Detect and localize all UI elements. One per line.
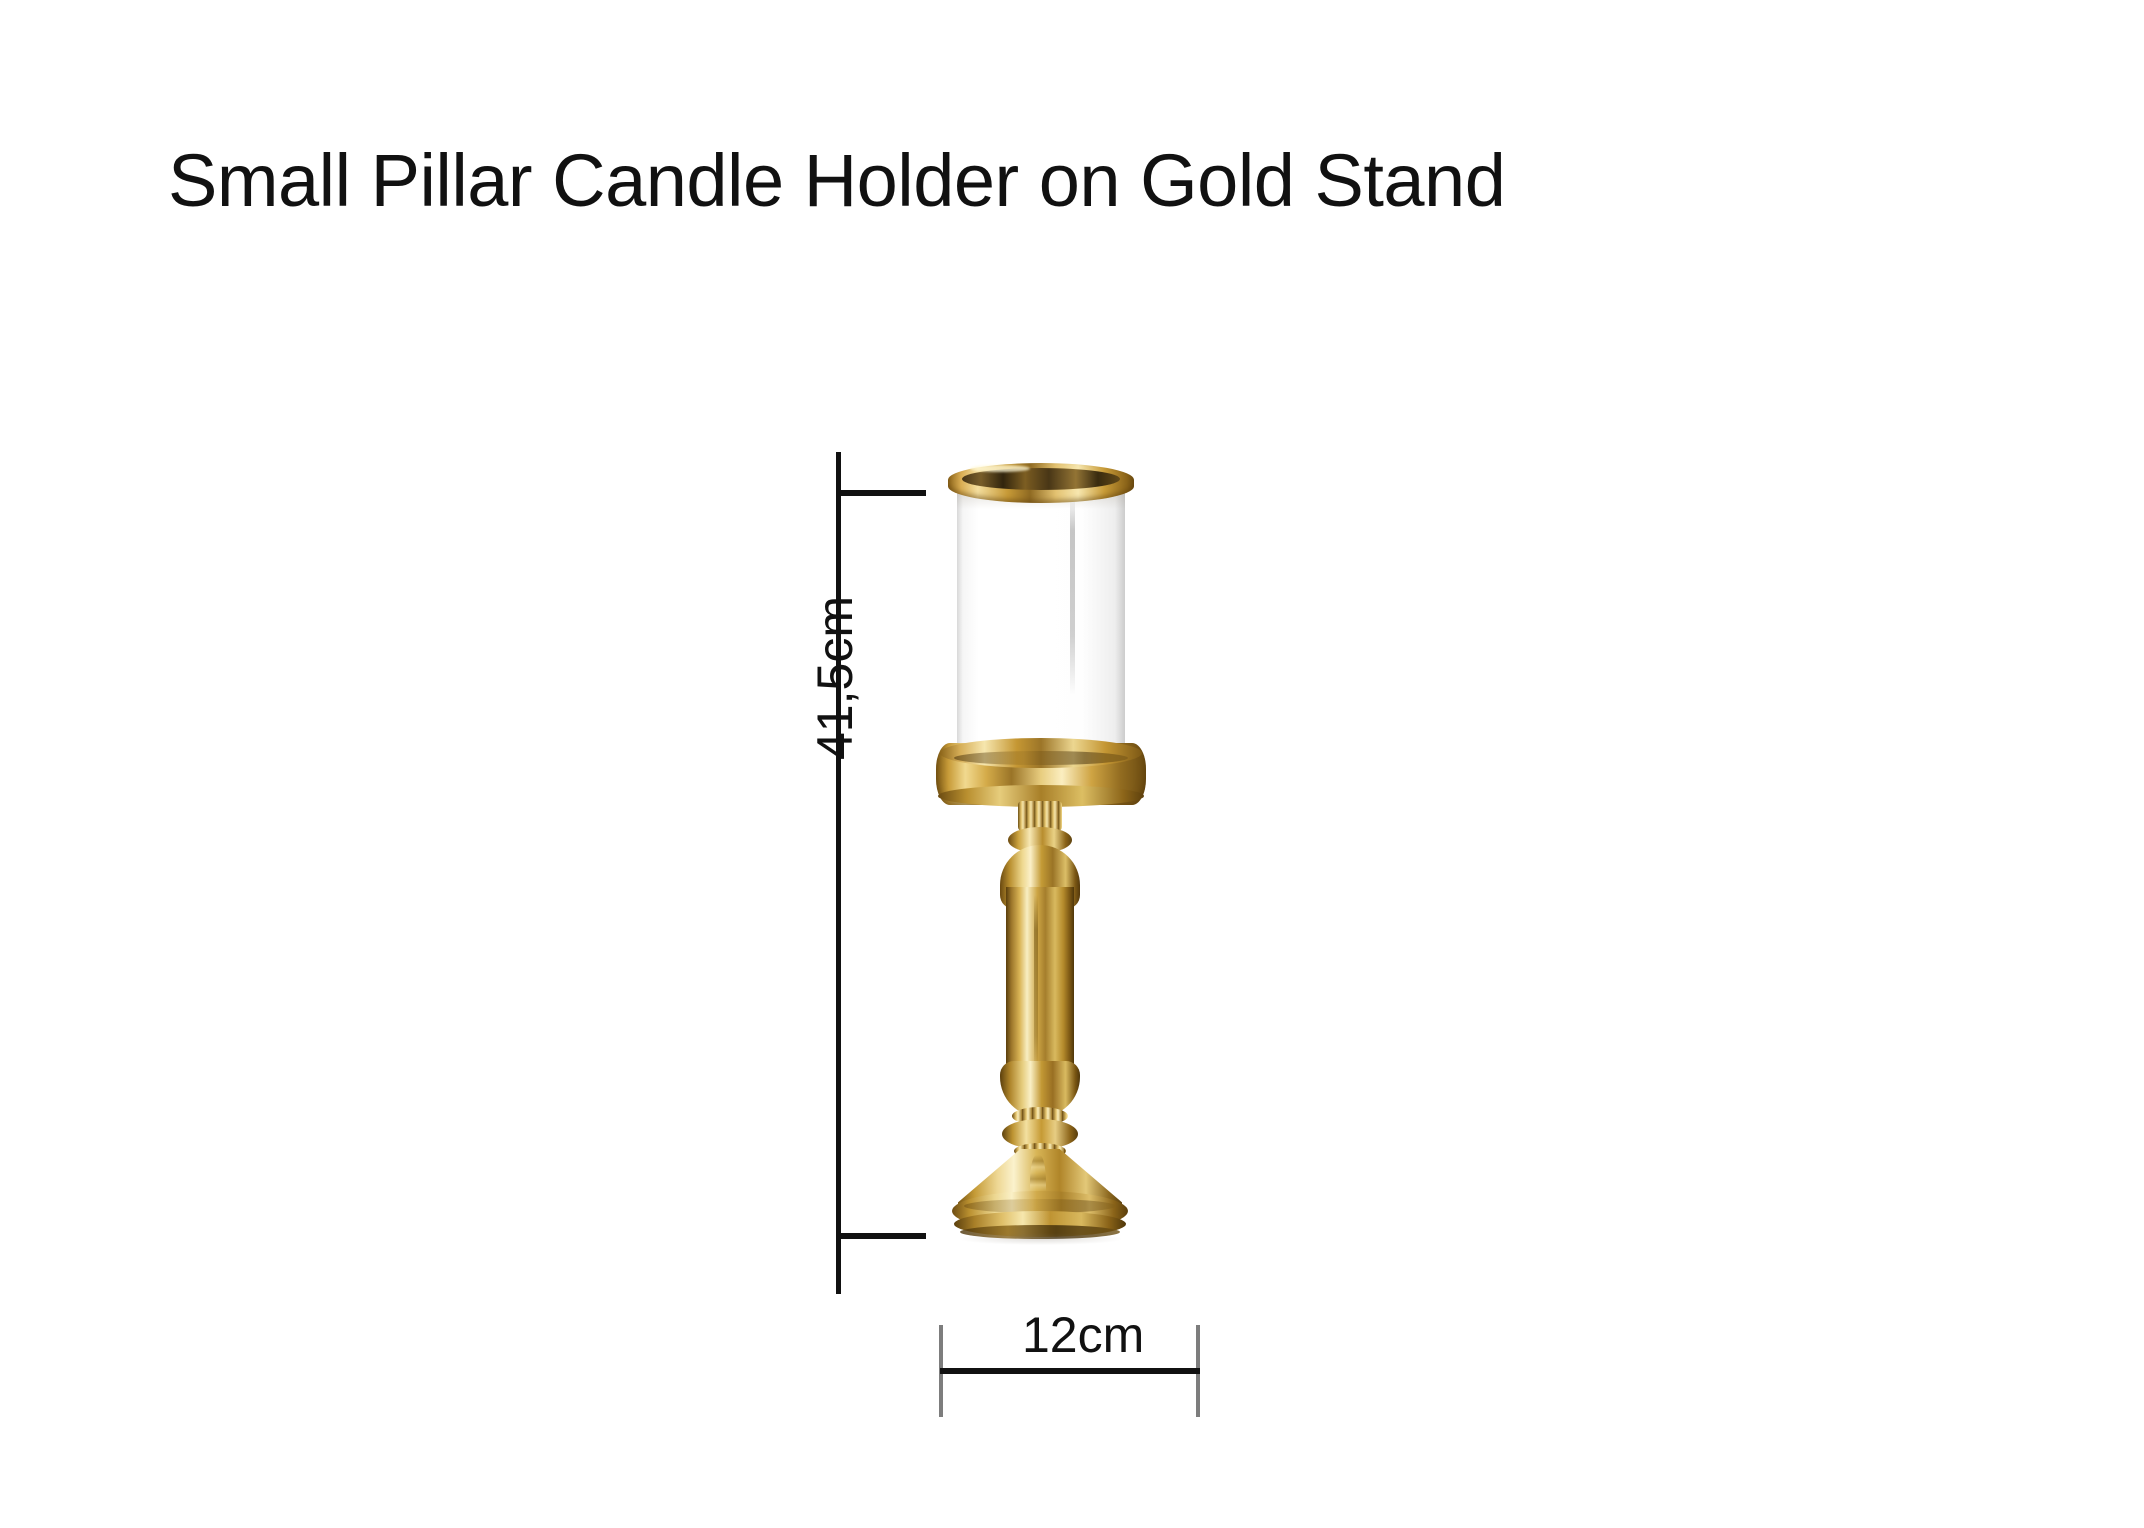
- stem-reflection: [1034, 895, 1038, 1071]
- width-dimension-line: [940, 1368, 1200, 1374]
- height-tick-bottom: [836, 1233, 926, 1239]
- glass-cylinder: [957, 487, 1125, 757]
- height-dimension-line: [836, 452, 841, 1294]
- top-rim-highlight: [970, 465, 1030, 472]
- stem-column: [1006, 887, 1074, 1083]
- product-spec-page: Small Pillar Candle Holder on Gold Stand: [0, 0, 2144, 1528]
- saucer-shadow-band: [954, 751, 1128, 765]
- width-dimension-label: 12cm: [1022, 1306, 1144, 1364]
- glass-highlight: [1070, 495, 1075, 695]
- product-illustration: [930, 455, 1190, 1245]
- height-tick-top: [836, 490, 926, 496]
- height-dimension-label: 41,5cm: [806, 596, 864, 760]
- contact-shadow: [960, 1233, 1122, 1245]
- page-title: Small Pillar Candle Holder on Gold Stand: [168, 140, 1505, 221]
